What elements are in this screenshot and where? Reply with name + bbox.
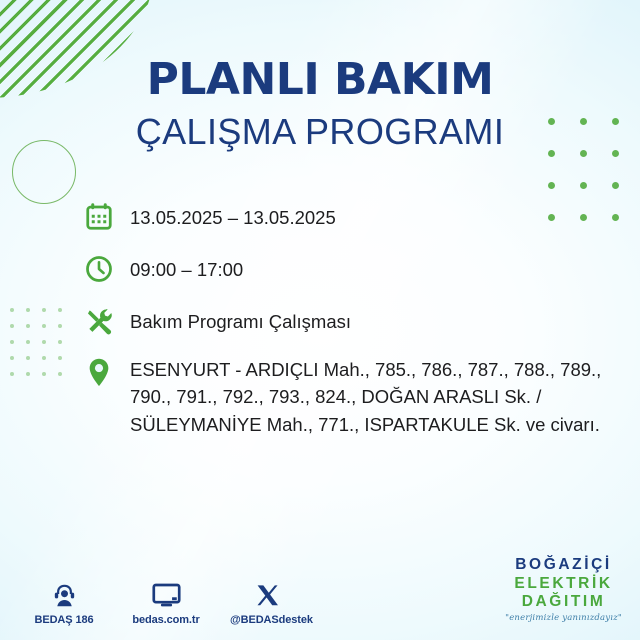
monitor-icon bbox=[128, 579, 204, 609]
location-pin-icon bbox=[84, 354, 130, 392]
brand-tagline: "enerjimizle yanınızdayız" bbox=[505, 614, 622, 623]
calendar-icon bbox=[84, 198, 130, 236]
poster-header: PLANLI BAKIM ÇALIŞMA PROGRAMI bbox=[0, 58, 640, 150]
date-range-value: 13.05.2025 – 13.05.2025 bbox=[130, 198, 336, 231]
contact-call-center[interactable]: BEDAŞ 186 bbox=[26, 579, 102, 626]
contact-social-x[interactable]: @BEDASdestek bbox=[230, 579, 306, 626]
footer-contacts: BEDAŞ 186 bedas.com.tr @BEDASdestek bbox=[26, 579, 306, 626]
page-title: PLANLI BAKIM bbox=[0, 58, 640, 102]
brand-line-bogazici: BOĞAZİÇİ bbox=[505, 557, 622, 573]
detail-row-work-type: Bakım Programı Çalışması bbox=[84, 302, 626, 340]
dot-grid-decoration-left bbox=[10, 308, 74, 388]
bedas-brand-logo: BOĞAZİÇİ ELEKTRİK DAĞITIM "enerjimizle y… bbox=[505, 557, 622, 622]
detail-row-date: 13.05.2025 – 13.05.2025 bbox=[84, 198, 626, 236]
detail-row-time: 09:00 – 17:00 bbox=[84, 250, 626, 288]
headset-support-icon bbox=[26, 579, 102, 609]
detail-row-address: ESENYURT - ARDIÇLI Mah., 785., 786., 787… bbox=[84, 354, 626, 438]
x-twitter-icon bbox=[230, 579, 306, 609]
brand-line-elektrik: ELEKTRİK bbox=[505, 576, 622, 592]
address-value: ESENYURT - ARDIÇLI Mah., 785., 786., 787… bbox=[130, 354, 626, 438]
work-type-value: Bakım Programı Çalışması bbox=[130, 302, 351, 335]
contact-website[interactable]: bedas.com.tr bbox=[128, 579, 204, 626]
contact-website-label: bedas.com.tr bbox=[128, 614, 204, 626]
maintenance-details: 13.05.2025 – 13.05.2025 09:00 – 17:00 Ba… bbox=[84, 198, 626, 438]
planned-maintenance-poster: PLANLI BAKIM ÇALIŞMA PROGRAMI 13.05.2025… bbox=[0, 0, 640, 640]
tools-icon bbox=[84, 302, 130, 340]
brand-line-dagitim: DAĞITIM bbox=[505, 594, 622, 610]
page-subtitle: ÇALIŞMA PROGRAMI bbox=[0, 114, 640, 150]
clock-icon bbox=[84, 250, 130, 288]
contact-call-center-label: BEDAŞ 186 bbox=[26, 614, 102, 626]
contact-social-x-label: @BEDASdestek bbox=[230, 614, 306, 626]
time-range-value: 09:00 – 17:00 bbox=[130, 250, 243, 283]
